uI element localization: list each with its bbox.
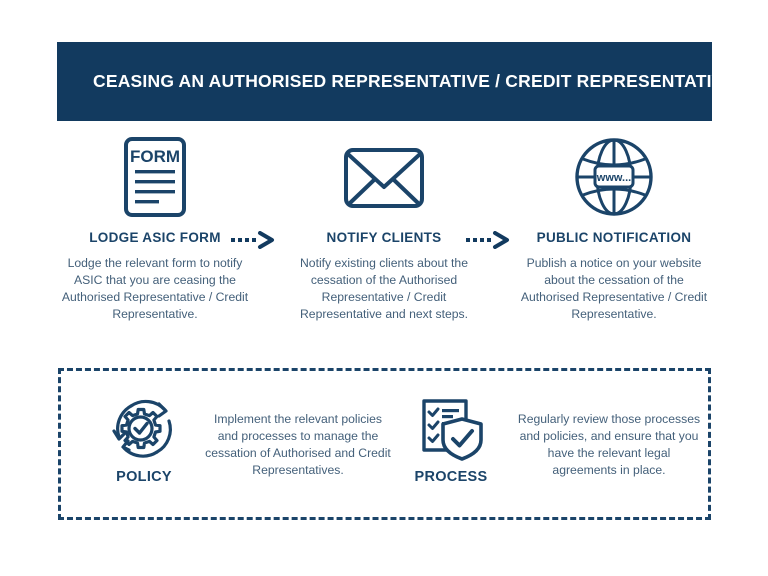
gear-check-cycle-icon xyxy=(91,393,197,465)
bottom-item-description: Regularly review those processes and pol… xyxy=(514,411,704,479)
step-description: Notify existing clients about the cessat… xyxy=(286,255,482,322)
policy-icon-block: POLICY xyxy=(91,393,197,485)
form-document-icon: FORM xyxy=(57,134,253,220)
step-title: LODGE ASIC FORM xyxy=(57,230,253,246)
step-title: PUBLIC NOTIFICATION xyxy=(516,230,712,246)
dotted-arrow-right-icon xyxy=(466,231,512,249)
process-icon-block: PROCESS xyxy=(398,393,504,485)
page-title: CEASING AN AUTHORISED REPRESENTATIVE / C… xyxy=(57,71,735,92)
bottom-item-title: POLICY xyxy=(91,469,197,485)
globe-www-icon: www... xyxy=(516,134,712,220)
bottom-item-policy: POLICY Implement the relevant policies a… xyxy=(81,371,391,517)
dotted-arrow-right-icon xyxy=(231,231,277,249)
step-notify-clients: NOTIFY CLIENTS Notify existing clients a… xyxy=(286,134,482,323)
bottom-item-description: Implement the relevant policies and proc… xyxy=(205,411,391,479)
svg-text:www...: www... xyxy=(596,172,631,184)
checklist-shield-icon xyxy=(398,393,504,465)
step-description: Publish a notice on your website about t… xyxy=(516,255,712,322)
steps-row: FORM LODGE ASIC FORM Lodge the relevant … xyxy=(57,134,712,349)
bottom-item-title: PROCESS xyxy=(398,469,504,485)
header-banner: CEASING AN AUTHORISED REPRESENTATIVE / C… xyxy=(57,42,712,121)
step-title: NOTIFY CLIENTS xyxy=(286,230,482,246)
step-lodge-asic-form: FORM LODGE ASIC FORM Lodge the relevant … xyxy=(57,134,253,323)
envelope-icon xyxy=(286,134,482,220)
step-description: Lodge the relevant form to notify ASIC t… xyxy=(57,255,253,322)
svg-text:FORM: FORM xyxy=(130,147,180,166)
bottom-dashed-panel: POLICY Implement the relevant policies a… xyxy=(58,368,711,520)
bottom-item-process: PROCESS Regularly review those processes… xyxy=(386,371,706,517)
step-public-notification: www... PUBLIC NOTIFICATION Publish a not… xyxy=(516,134,712,323)
